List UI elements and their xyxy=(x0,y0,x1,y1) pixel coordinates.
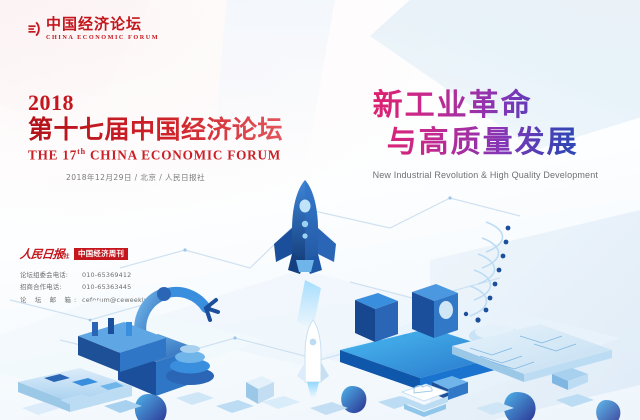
ce-monogram-icon xyxy=(18,18,40,40)
poster-canvas: 中国经济论坛 CHINA ECONOMIC FORUM 2018 第十七届中国经… xyxy=(0,0,640,420)
forum-logo-en: CHINA ECONOMIC FORUM xyxy=(46,35,159,41)
isometric-illustration-svg xyxy=(0,150,640,420)
event-year: 2018 xyxy=(28,92,283,114)
isometric-industry-scene xyxy=(0,150,640,420)
forum-logo-text: 中国经济论坛 CHINA ECONOMIC FORUM xyxy=(46,17,159,41)
forum-logo-cn: 中国经济论坛 xyxy=(46,17,159,32)
slogan-line-1: 新工业革命 xyxy=(373,88,598,125)
forum-logo: 中国经济论坛 CHINA ECONOMIC FORUM xyxy=(18,17,159,41)
smartphone-icon xyxy=(246,376,274,404)
event-title-cn: 第十七届中国经济论坛 xyxy=(28,116,283,144)
